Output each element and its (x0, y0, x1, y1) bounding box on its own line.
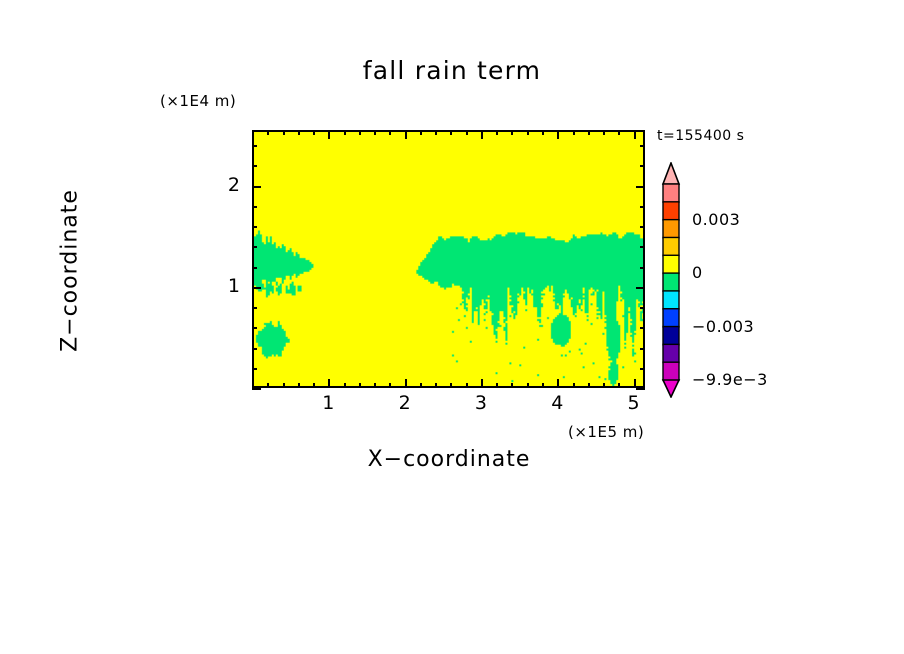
x-minor-tick-top (618, 130, 620, 135)
x-major-tick-top (328, 130, 330, 139)
x-minor-tick (511, 383, 513, 388)
x-minor-tick (542, 383, 544, 388)
x-major-tick (252, 379, 254, 388)
colorbar-band-navy (663, 327, 679, 345)
y-minor-tick-right (640, 206, 645, 208)
x-minor-tick-top (313, 130, 315, 135)
colorbar-label: −0.003 (692, 317, 754, 336)
y-minor-tick (252, 246, 257, 248)
y-axis-title: Z−coordinate (58, 141, 83, 401)
figure-canvas: fall rain term (×1E4 m) t=155400 s 12345… (0, 0, 904, 654)
y-minor-tick (252, 206, 257, 208)
y-minor-tick-right (640, 165, 645, 167)
x-minor-tick-top (588, 130, 590, 135)
colorbar-band-orange-red (663, 202, 679, 220)
x-minor-tick (618, 383, 620, 388)
x-minor-tick (298, 383, 300, 388)
x-minor-tick-top (603, 130, 605, 135)
x-minor-tick-top (283, 130, 285, 135)
colorbar-label: 0.003 (692, 210, 740, 229)
x-minor-tick-top (267, 130, 269, 135)
x-minor-tick-top (374, 130, 376, 135)
timestamp-annotation: t=155400 s (657, 128, 744, 144)
x-minor-tick-top (389, 130, 391, 135)
x-minor-tick (466, 383, 468, 388)
y-major-tick (252, 287, 261, 289)
colorbar-arrow-top (663, 163, 679, 184)
x-minor-tick-top (496, 130, 498, 135)
x-minor-tick (313, 383, 315, 388)
x-axis-unit-label: (×1E5 m) (568, 423, 644, 441)
x-minor-tick (267, 383, 269, 388)
colorbar-band-magenta (663, 362, 679, 380)
x-minor-tick (588, 383, 590, 388)
x-minor-tick (603, 383, 605, 388)
y-major-tick (252, 388, 261, 390)
x-minor-tick (450, 383, 452, 388)
y-major-tick-right (636, 388, 645, 390)
colorbar-band-purple (663, 344, 679, 362)
plot-area (252, 130, 645, 388)
x-major-tick-top (252, 130, 254, 139)
y-minor-tick (252, 165, 257, 167)
y-minor-tick-right (640, 307, 645, 309)
colorbar (659, 162, 683, 398)
y-minor-tick-right (640, 246, 645, 248)
colorbar-arrow-bottom (663, 380, 679, 397)
y-minor-tick-right (640, 267, 645, 269)
y-minor-tick (252, 307, 257, 309)
x-minor-tick-top (466, 130, 468, 135)
x-minor-tick-top (542, 130, 544, 135)
colorbar-label: −9.9e−3 (692, 370, 768, 389)
x-minor-tick (359, 383, 361, 388)
x-major-tick (481, 379, 483, 388)
x-minor-tick (573, 383, 575, 388)
x-minor-tick-top (435, 130, 437, 135)
x-major-tick-top (634, 130, 636, 139)
colorbar-band-blue (663, 309, 679, 327)
x-major-tick-top (481, 130, 483, 139)
x-tick-label: 5 (619, 392, 649, 414)
y-minor-tick (252, 327, 257, 329)
y-tick-label: 2 (214, 174, 240, 196)
x-minor-tick (435, 383, 437, 388)
x-minor-tick-top (527, 130, 529, 135)
colorbar-swatches (659, 162, 683, 398)
y-minor-tick (252, 226, 257, 228)
x-minor-tick (344, 383, 346, 388)
y-minor-tick-right (640, 145, 645, 147)
x-minor-tick-top (450, 130, 452, 135)
x-minor-tick (420, 383, 422, 388)
y-minor-tick (252, 368, 257, 370)
colorbar-band-orange (663, 220, 679, 238)
x-major-tick (405, 379, 407, 388)
x-minor-tick-top (420, 130, 422, 135)
x-axis-title: X−coordinate (252, 447, 646, 472)
x-tick-label: 1 (313, 392, 343, 414)
contour-field (254, 132, 643, 386)
x-tick-label: 2 (390, 392, 420, 414)
x-minor-tick (389, 383, 391, 388)
y-minor-tick (252, 267, 257, 269)
y-minor-tick (252, 348, 257, 350)
y-minor-tick-right (640, 226, 645, 228)
x-minor-tick-top (511, 130, 513, 135)
x-major-tick (557, 379, 559, 388)
colorbar-label: 0 (692, 263, 703, 282)
y-minor-tick-right (640, 327, 645, 329)
colorbar-band-cyan (663, 291, 679, 309)
y-minor-tick-right (640, 368, 645, 370)
y-minor-tick (252, 145, 257, 147)
y-minor-tick-right (640, 348, 645, 350)
x-minor-tick-top (359, 130, 361, 135)
x-major-tick-top (557, 130, 559, 139)
x-minor-tick-top (573, 130, 575, 135)
y-major-tick-right (636, 186, 645, 188)
x-minor-tick-top (298, 130, 300, 135)
x-minor-tick-top (344, 130, 346, 135)
colorbar-band-salmon (663, 184, 679, 202)
x-minor-tick (496, 383, 498, 388)
x-major-tick-top (405, 130, 407, 139)
x-major-tick (634, 379, 636, 388)
x-minor-tick (283, 383, 285, 388)
colorbar-band-spring-green (663, 273, 679, 291)
x-major-tick (328, 379, 330, 388)
x-minor-tick (527, 383, 529, 388)
x-minor-tick (374, 383, 376, 388)
y-major-tick (252, 186, 261, 188)
x-tick-label: 3 (466, 392, 496, 414)
y-tick-label: 1 (214, 275, 240, 297)
x-tick-label: 4 (542, 392, 572, 414)
colorbar-band-amber (663, 237, 679, 255)
y-axis-unit-label: (×1E4 m) (160, 92, 236, 110)
y-major-tick-right (636, 287, 645, 289)
colorbar-band-yellow (663, 255, 679, 273)
page-title: fall rain term (0, 56, 904, 85)
